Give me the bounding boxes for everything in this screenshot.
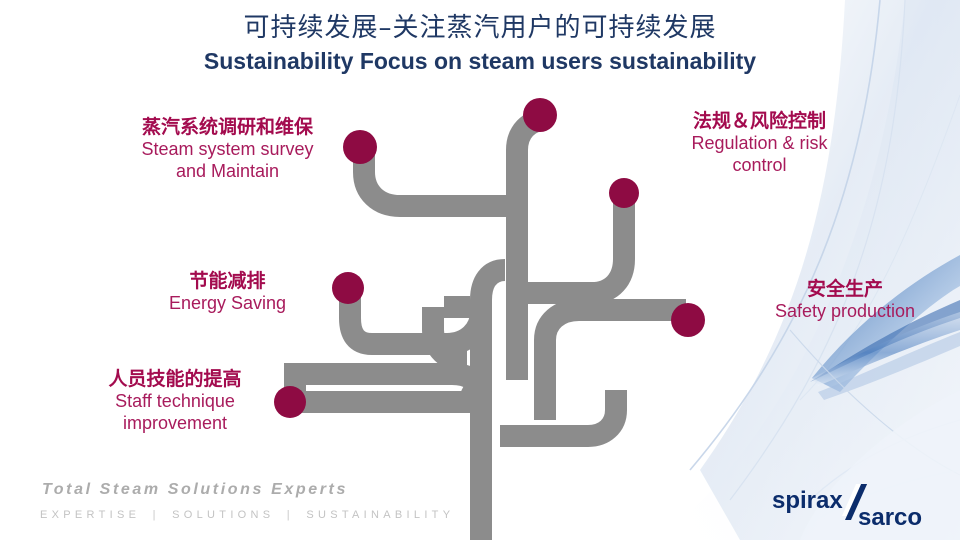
label-safety-production-cn: 安全生产 [735,278,955,300]
footer-pillars: EXPERTISE | SOLUTIONS | SUSTAINABILITY [40,509,454,521]
node-top-center [523,98,557,132]
label-staff-technique-improvement: 人员技能的提高 Staff technique improvement [70,368,280,434]
branch-staff-elbow [470,389,481,402]
label-steam-system-survey-en-line2: and Maintain [110,161,345,182]
footer-pillar-sustainability: SUSTAINABILITY [306,509,454,521]
footer-pillar-separator-2: | [282,509,299,521]
node-energy-saving [332,272,364,304]
footer-pillar-expertise: EXPERTISE [40,509,140,521]
branch-right-hook [500,390,616,436]
label-safety-production-en-line1: Safety production [735,301,955,322]
label-staff-technique-en-line1: Staff technique [70,391,280,412]
label-regulation-risk-cn: 法规＆风险控制 [662,110,857,132]
label-energy-saving-en-line1: Energy Saving [140,293,315,314]
label-steam-system-survey-en-line1: Steam system survey [110,139,345,160]
slide-canvas: 可持续发展–关注蒸汽用户的可持续发展 Sustainability Focus … [0,0,960,540]
label-regulation-risk-control: 法规＆风险控制 Regulation & risk control [662,110,857,176]
footer-pillar-solutions: SOLUTIONS [172,509,274,521]
label-steam-system-survey: 蒸汽系统调研和维保 Steam system survey and Mainta… [110,116,345,182]
label-steam-system-survey-cn: 蒸汽系统调研和维保 [110,116,345,138]
label-regulation-risk-en-line1: Regulation & risk [662,133,857,154]
label-safety-production: 安全生产 Safety production [735,278,955,323]
label-regulation-risk-en-line2: control [662,155,857,176]
label-staff-technique-en-line2: improvement [70,413,280,434]
branch-to-steam-system [364,150,517,206]
label-energy-saving-cn: 节能减排 [140,270,315,292]
node-steam-system [343,130,377,164]
footer-tagline: Total Steam Solutions Experts [42,481,348,499]
spirax-sarco-logo: spirax sarco [770,484,945,532]
node-regulation-stub [609,178,639,208]
branch-to-regulation-stub [517,196,624,293]
node-safety-production [671,303,705,337]
footer-pillar-separator-1: | [148,509,165,521]
label-energy-saving: 节能减排 Energy Saving [140,270,315,315]
label-staff-technique-cn: 人员技能的提高 [70,368,280,390]
logo-word-spirax: spirax [772,487,843,514]
logo-word-sarco: sarco [858,504,922,531]
